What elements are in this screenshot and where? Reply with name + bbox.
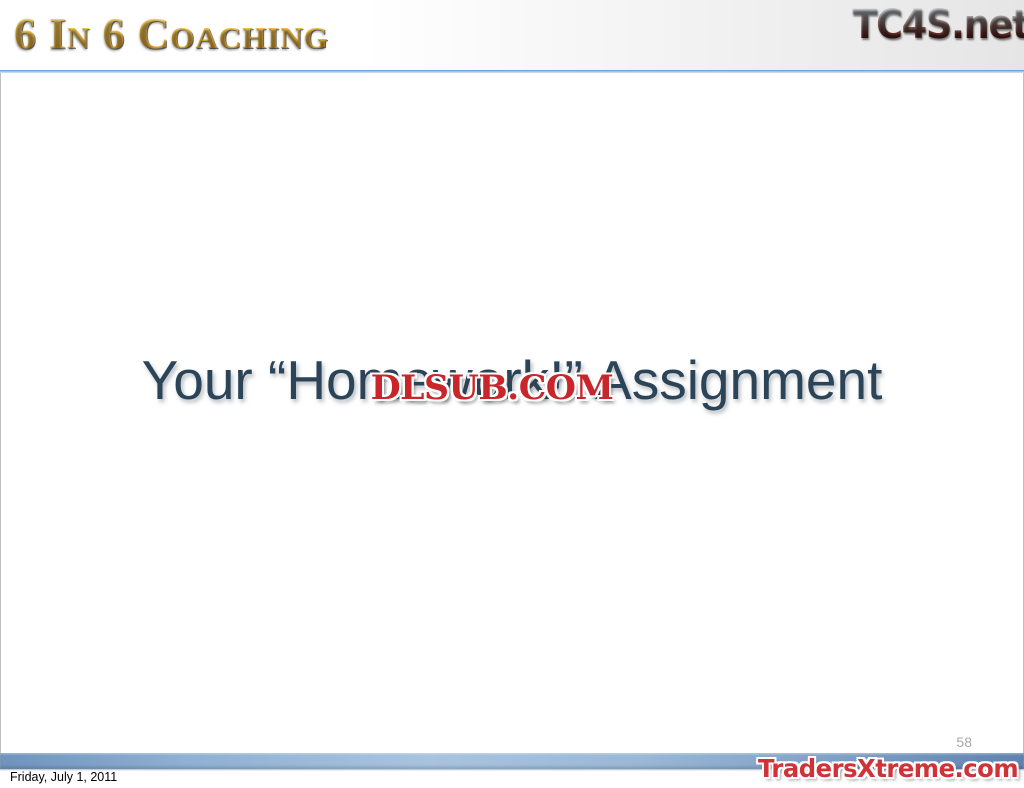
footer-date: Friday, July 1, 2011 <box>10 769 117 785</box>
slide-canvas: 6 In 6 Coaching 6 In 6 Coaching TC4S.net… <box>0 0 1024 788</box>
dlsub-watermark: DLSUB.COM <box>371 368 614 408</box>
footer-logo-tradersxtreme: TradersXtreme.com <box>758 754 1018 784</box>
page-number: 58 <box>956 733 972 751</box>
header-banner: 6 In 6 Coaching 6 In 6 Coaching TC4S.net <box>0 0 1024 71</box>
site-logo-tc4s: TC4S.net <box>852 2 1024 48</box>
brand-title: 6 In 6 Coaching <box>14 6 329 62</box>
